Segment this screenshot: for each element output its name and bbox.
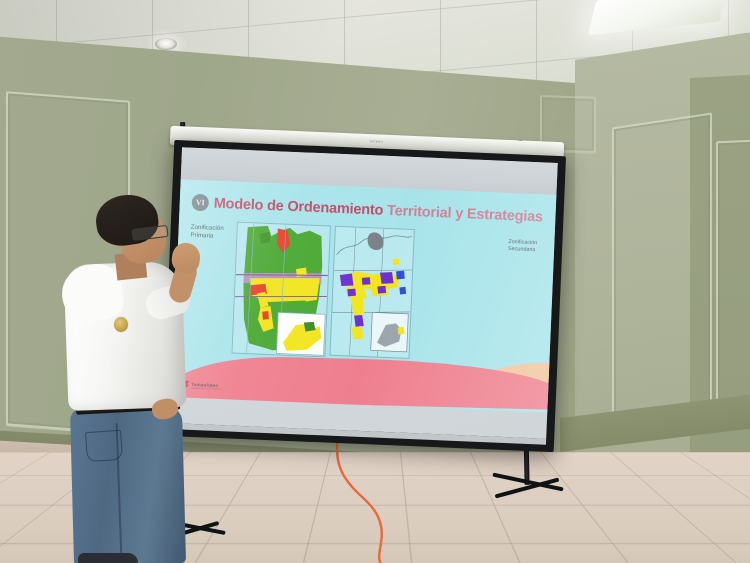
- slide-accent-band: [172, 354, 557, 410]
- presenter: [60, 195, 210, 563]
- secundaria-map-art: [331, 227, 414, 358]
- screen-surface: VI Modelo de Ordenamiento Territorial y …: [171, 147, 558, 439]
- presenter-sleeve-emblem-icon: [114, 317, 128, 332]
- wall-panel-molding: [716, 139, 750, 416]
- screen-frame: VI Modelo de Ordenamiento Territorial y …: [162, 140, 566, 452]
- wall-panel-molding: [612, 113, 712, 432]
- screen-brand-label: screen: [370, 139, 383, 144]
- downlight-icon: [155, 38, 177, 50]
- slide-content: VI Modelo de Ordenamiento Territorial y …: [172, 179, 557, 413]
- right-map-label-line2: Secundaria: [508, 246, 537, 254]
- projector-screen[interactable]: screen VI Modelo de Ordenamiento Territo…: [168, 148, 568, 448]
- zonificacion-primaria-map: [231, 222, 330, 358]
- slide-title-light: Territorial y Estrategias: [387, 202, 543, 225]
- presenter-jeans: [70, 406, 186, 563]
- slide-title-strong: Modelo de Ordenamiento: [213, 195, 383, 218]
- slide-title: Modelo de Ordenamiento Territorial y Est…: [213, 195, 543, 225]
- slide-title-row: VI Modelo de Ordenamiento Territorial y …: [191, 194, 543, 226]
- presentation-room-scene: screen VI Modelo de Ordenamiento Territo…: [0, 0, 750, 563]
- presenter-jeans-pocket: [85, 430, 123, 462]
- presenter-shoe: [78, 553, 138, 563]
- right-map-label: Zonificación Secundaria: [508, 239, 537, 255]
- primaria-map-art: [233, 223, 330, 357]
- zonificacion-secundaria-map: [329, 226, 414, 359]
